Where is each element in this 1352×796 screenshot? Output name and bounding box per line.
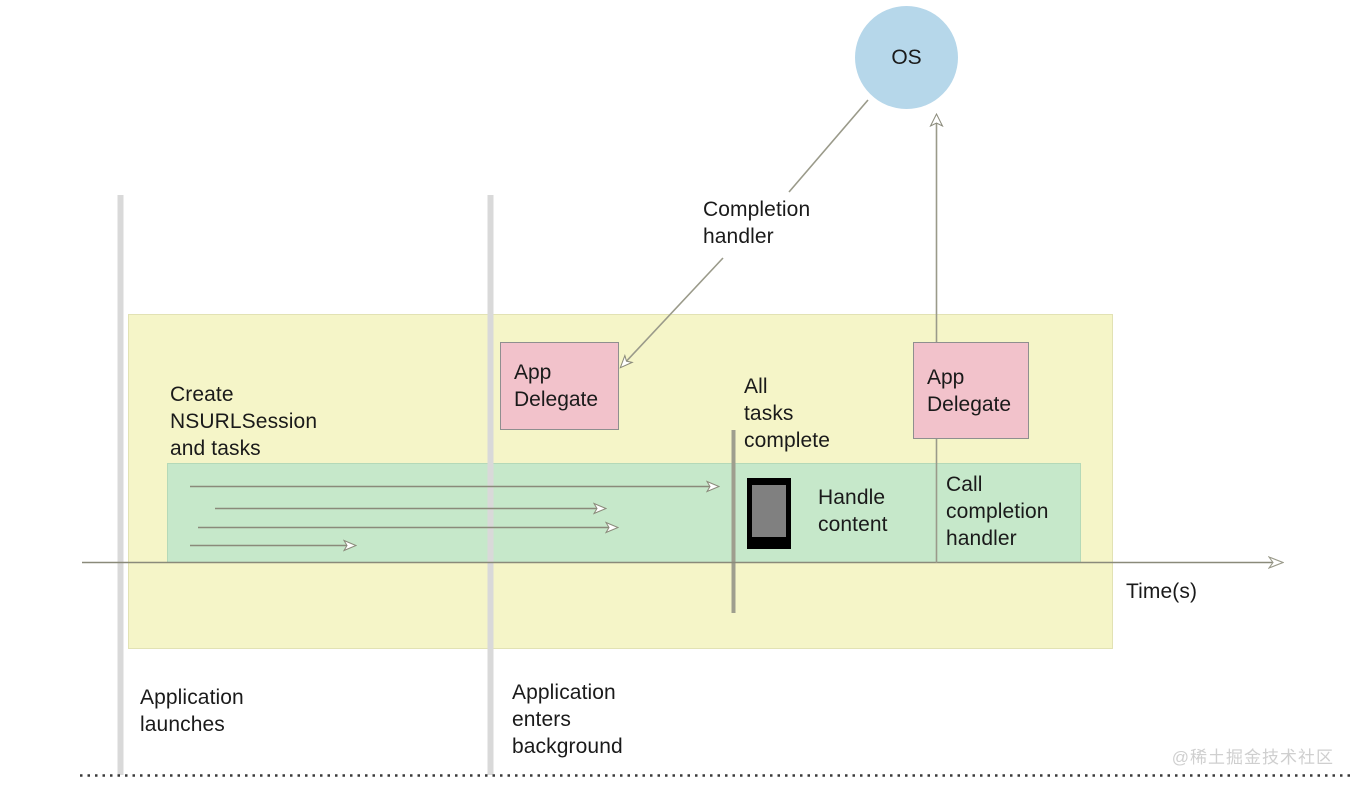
label-application-enters-background: Application enters background bbox=[512, 679, 623, 760]
phone-screen bbox=[752, 485, 786, 537]
completion-handler-to-delegate-arrow bbox=[621, 258, 723, 367]
label-time-axis: Time(s) bbox=[1126, 578, 1197, 605]
phone-icon bbox=[747, 478, 791, 549]
os-to-completion-handler-leader bbox=[789, 100, 868, 192]
node-app-delegate-2-label: App Delegate bbox=[927, 364, 1011, 418]
label-all-tasks-complete: All tasks complete bbox=[744, 373, 830, 454]
label-create-session: Create NSURLSession and tasks bbox=[170, 381, 317, 462]
diagram-canvas: OS App Delegate App Delegate Completion … bbox=[0, 0, 1352, 796]
node-os-label: OS bbox=[891, 46, 921, 70]
label-application-launches: Application launches bbox=[140, 684, 244, 738]
node-app-delegate-1: App Delegate bbox=[500, 342, 619, 430]
label-completion-handler: Completion handler bbox=[703, 196, 810, 250]
label-handle-content: Handle content bbox=[818, 484, 888, 538]
node-app-delegate-2: App Delegate bbox=[913, 342, 1029, 439]
node-os: OS bbox=[855, 6, 958, 109]
watermark: @稀土掘金技术社区 bbox=[1172, 743, 1334, 768]
node-app-delegate-1-label: App Delegate bbox=[514, 359, 598, 413]
label-call-completion-handler: Call completion handler bbox=[946, 471, 1049, 552]
